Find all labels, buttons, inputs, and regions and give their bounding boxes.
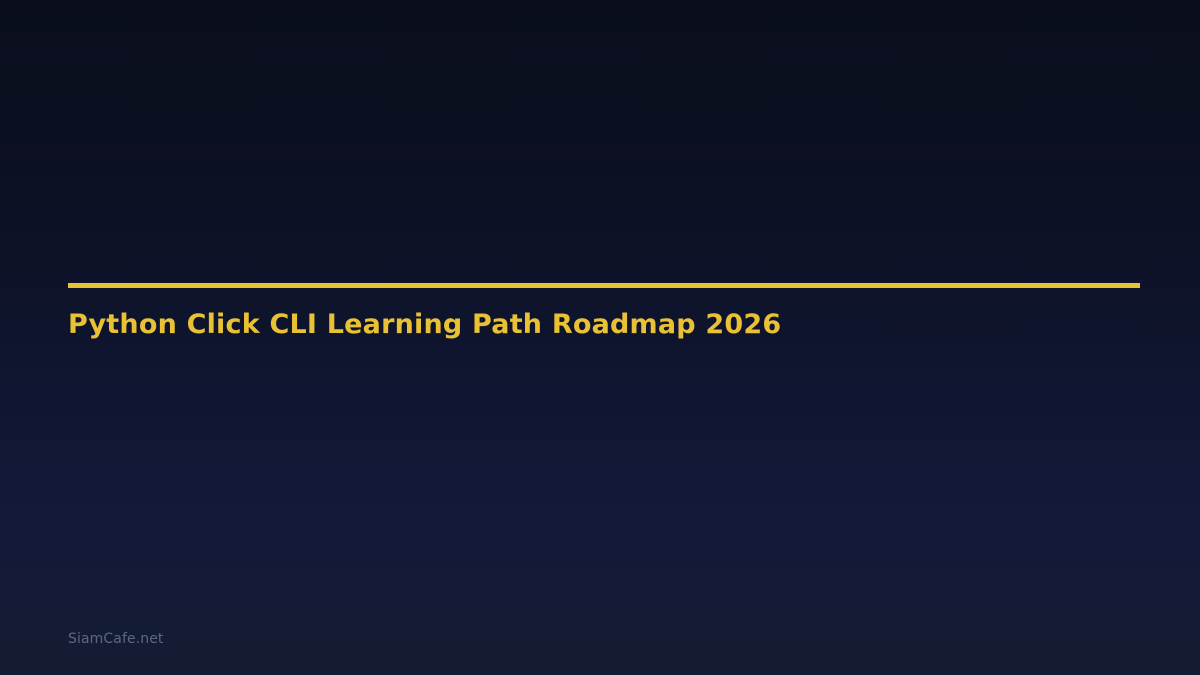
page-title: Python Click CLI Learning Path Roadmap 2… — [68, 288, 1140, 341]
title-block: Python Click CLI Learning Path Roadmap 2… — [68, 283, 1140, 341]
footer-attribution: SiamCafe.net — [68, 630, 164, 648]
slide-canvas: Python Click CLI Learning Path Roadmap 2… — [0, 0, 1200, 675]
